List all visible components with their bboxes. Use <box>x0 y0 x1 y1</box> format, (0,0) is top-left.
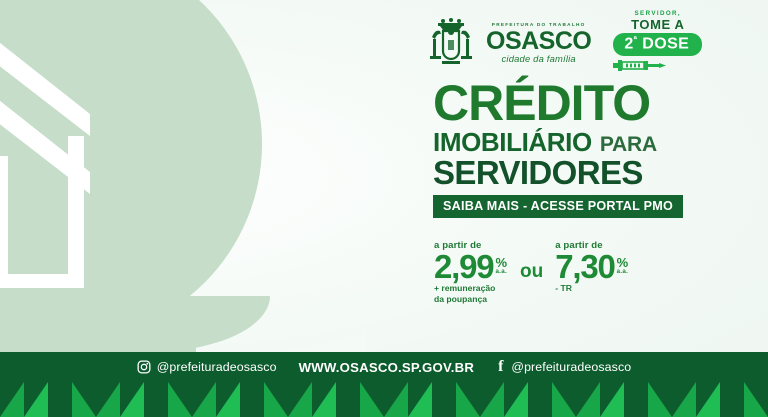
house-outline-icon <box>0 0 162 314</box>
rate-1-unit: % a.a. <box>495 256 507 275</box>
vaccine-dose-ordinal: ª <box>634 34 638 44</box>
headline-para: PARA <box>600 134 657 155</box>
rate-2-value: 7,30 <box>555 252 614 281</box>
vaccine-badge-pill: 2ª DOSE <box>613 33 702 56</box>
osasco-wordmark: PREFEITURA DO TRABALHO OSASCO cidade da … <box>486 21 591 63</box>
osasco-coat-of-arms-icon <box>430 17 472 67</box>
rate-2-main: 7,30 % a.a. <box>555 252 628 281</box>
rate-1-main: 2,99 % a.a. <box>434 252 507 281</box>
cta-button[interactable]: SAIBA MAIS - ACESSE PORTAL PMO <box>433 195 683 218</box>
footer-bar: @prefeituradeosasco WWW.OSASCO.SP.GOV.BR… <box>0 352 768 382</box>
website-url[interactable]: WWW.OSASCO.SP.GOV.BR <box>299 360 474 375</box>
headline-block: CRÉDITO IMOBILIÁRIO PARA SERVIDORES SAIB… <box>433 80 733 218</box>
promotional-banner: PREFEITURA DO TRABALHO OSASCO cidade da … <box>0 0 768 417</box>
vaccine-dose-word: DOSE <box>642 35 689 52</box>
rate-option-1: a partir de 2,99 % a.a. + remuneração da… <box>434 240 507 304</box>
rate-1-value: 2,99 <box>434 252 493 281</box>
wordmark-subtitle: cidade da família <box>486 54 591 63</box>
wordmark-top-line: PREFEITURA DO TRABALHO <box>485 23 592 28</box>
headline-imobiliario: IMOBILIÁRIO <box>433 129 592 155</box>
vaccine-dose-number: 2 <box>624 35 633 52</box>
instagram-icon <box>137 360 151 374</box>
syringe-icon <box>613 58 667 73</box>
zigzag-pattern <box>0 382 768 417</box>
rate-1-note: + remuneração da poupança <box>434 283 507 304</box>
headline-credito: CRÉDITO <box>433 80 733 127</box>
wordmark-main: OSASCO <box>486 29 591 53</box>
vaccine-badge-middle: TOME A <box>613 18 702 31</box>
rate-2-period: a.a. <box>617 269 629 275</box>
header-logos: PREFEITURA DO TRABALHO OSASCO cidade da … <box>430 10 760 74</box>
white-swoosh-decoration <box>236 330 366 354</box>
rate-2-unit: % a.a. <box>617 256 629 275</box>
facebook-link[interactable]: f @prefeituradeosasco <box>496 359 631 375</box>
vaccine-badge: SERVIDOR, TOME A 2ª DOSE <box>613 11 702 73</box>
rate-1-period: a.a. <box>495 269 507 275</box>
facebook-handle: @prefeituradeosasco <box>511 360 631 374</box>
rate-option-2: a partir de 7,30 % a.a. - TR <box>555 240 628 294</box>
instagram-handle: @prefeituradeosasco <box>157 360 277 374</box>
headline-servidores: SERVIDORES <box>433 156 733 189</box>
facebook-icon: f <box>496 359 505 375</box>
instagram-link[interactable]: @prefeituradeosasco <box>137 360 277 374</box>
rates-section: a partir de 2,99 % a.a. + remuneração da… <box>434 240 744 304</box>
headline-row-2: IMOBILIÁRIO PARA <box>433 129 733 155</box>
rates-separator: ou <box>520 262 543 281</box>
